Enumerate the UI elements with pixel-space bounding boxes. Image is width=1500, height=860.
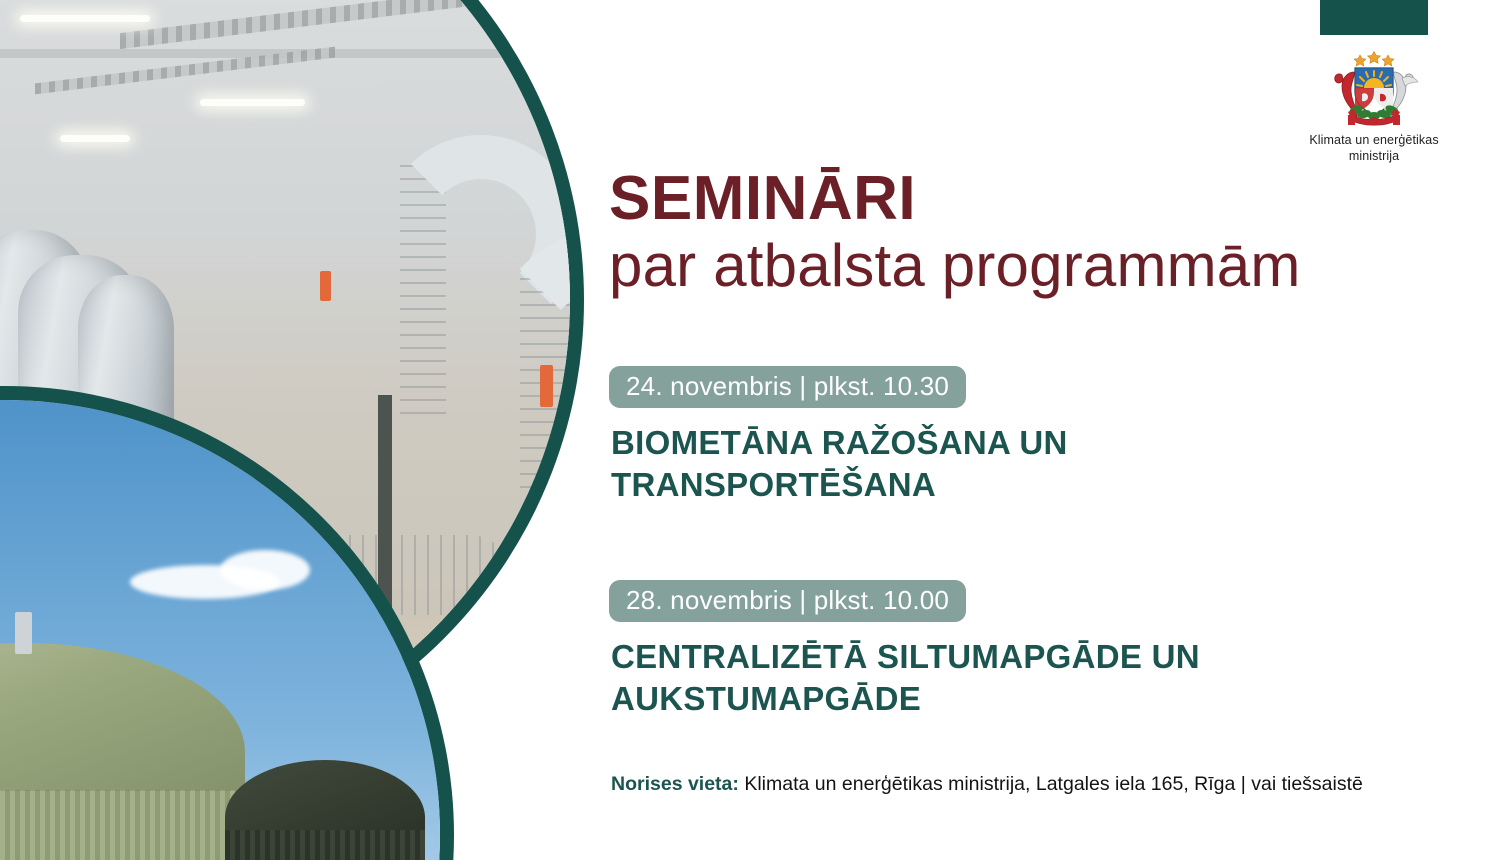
image-collage — [0, 0, 600, 860]
digester-drum — [0, 790, 245, 860]
event-title-line2: TRANSPORTĒŠANA — [611, 464, 1489, 506]
teal-bar — [1320, 0, 1428, 35]
ceiling-lamp — [20, 15, 150, 22]
venue-value: Klimata un enerģētikas ministrija, Latga… — [744, 773, 1363, 795]
event-title: CENTRALIZĒTĀ SILTUMAPGĀDE UN AUKSTUMAPGĀ… — [611, 636, 1489, 720]
event-date-badge: 28. novembris | plkst. 10.00 — [609, 580, 966, 622]
latvia-coat-of-arms-icon — [1322, 46, 1426, 128]
event-item: 24. novembris | plkst. 10.30 BIOMETĀNA R… — [609, 366, 1489, 506]
orange-marker — [540, 365, 553, 407]
event-title: BIOMETĀNA RAŽOŠANA UN TRANSPORTĒŠANA — [611, 422, 1489, 506]
orange-marker — [320, 271, 331, 301]
cloud — [220, 550, 310, 590]
cable-tray — [120, 0, 480, 49]
event-title-line2: AUKSTUMAPGĀDE — [611, 678, 1489, 720]
pipe-stand — [540, 625, 558, 765]
venue-label: Norises vieta: — [611, 773, 739, 795]
bottom-circle-frame — [0, 400, 440, 860]
page-subtitle: par atbalsta programmām — [609, 234, 1489, 299]
event-item: 28. novembris | plkst. 10.00 CENTRALIZĒT… — [609, 580, 1489, 720]
page-title: SEMINĀRI — [609, 168, 1489, 230]
headline-block: SEMINĀRI par atbalsta programmām — [609, 168, 1489, 299]
roof-vent — [15, 612, 32, 654]
venue-line: Norises vieta: Klimata un enerģētikas mi… — [611, 772, 1363, 797]
ministry-logo: Klimata un enerģētikas ministrija — [1274, 0, 1474, 164]
event-date-badge: 24. novembris | plkst. 10.30 — [609, 366, 966, 408]
logo-caption-line2: ministrija — [1274, 149, 1474, 165]
digester-dome — [0, 643, 245, 813]
logo-caption-line1: Klimata un enerģētikas — [1274, 133, 1474, 149]
biogas-plant-photo — [0, 400, 440, 860]
poster-canvas: Klimata un enerģētikas ministrija SEMINĀ… — [0, 0, 1500, 860]
event-title-line1: CENTRALIZĒTĀ SILTUMAPGĀDE UN — [611, 636, 1489, 678]
dark-tank-drum — [225, 830, 425, 860]
ceiling-lamp — [200, 99, 305, 106]
event-title-line1: BIOMETĀNA RAŽOŠANA UN — [611, 422, 1489, 464]
ceiling-lamp — [60, 135, 130, 142]
logo-caption: Klimata un enerģētikas ministrija — [1274, 133, 1474, 164]
content-column: Klimata un enerģētikas ministrija SEMINĀ… — [609, 0, 1489, 860]
